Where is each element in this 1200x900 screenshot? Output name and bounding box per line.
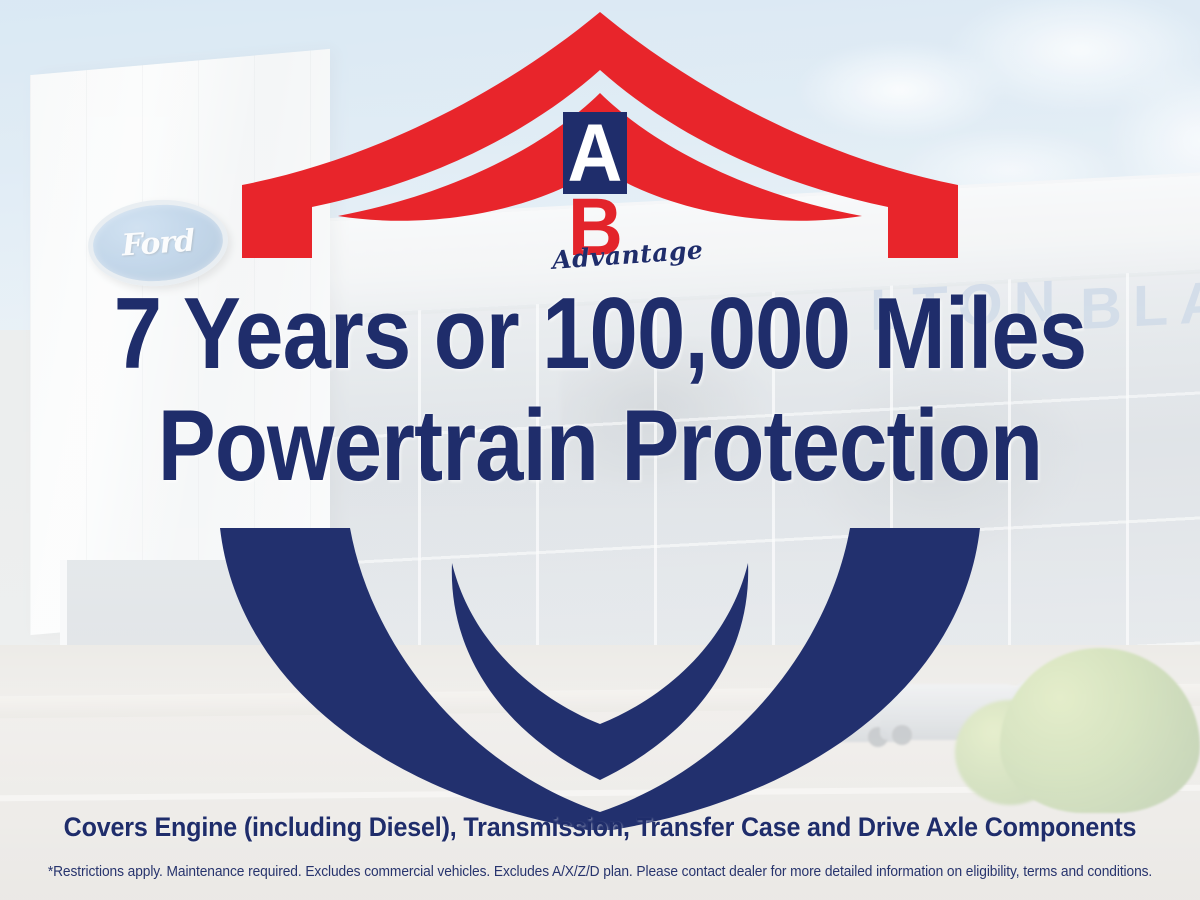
ab-advantage-logo: A B Advantage <box>556 112 646 282</box>
advertisement-banner: LTON BLA Ford A B Advantage <box>0 0 1200 900</box>
navy-chevron-shield <box>0 500 1200 830</box>
coverage-statement: Covers Engine (including Diesel), Transm… <box>42 812 1158 843</box>
navy-v-inner <box>452 563 748 780</box>
headline-line-2: Powertrain Protection <box>84 398 1116 496</box>
navy-v-outer <box>220 528 980 830</box>
legal-disclaimer: *Restrictions apply. Maintenance require… <box>30 864 1170 880</box>
headline-line-1: 7 Years or 100,000 Miles <box>84 286 1116 384</box>
headline-block: 7 Years or 100,000 Miles Powertrain Prot… <box>0 286 1200 496</box>
